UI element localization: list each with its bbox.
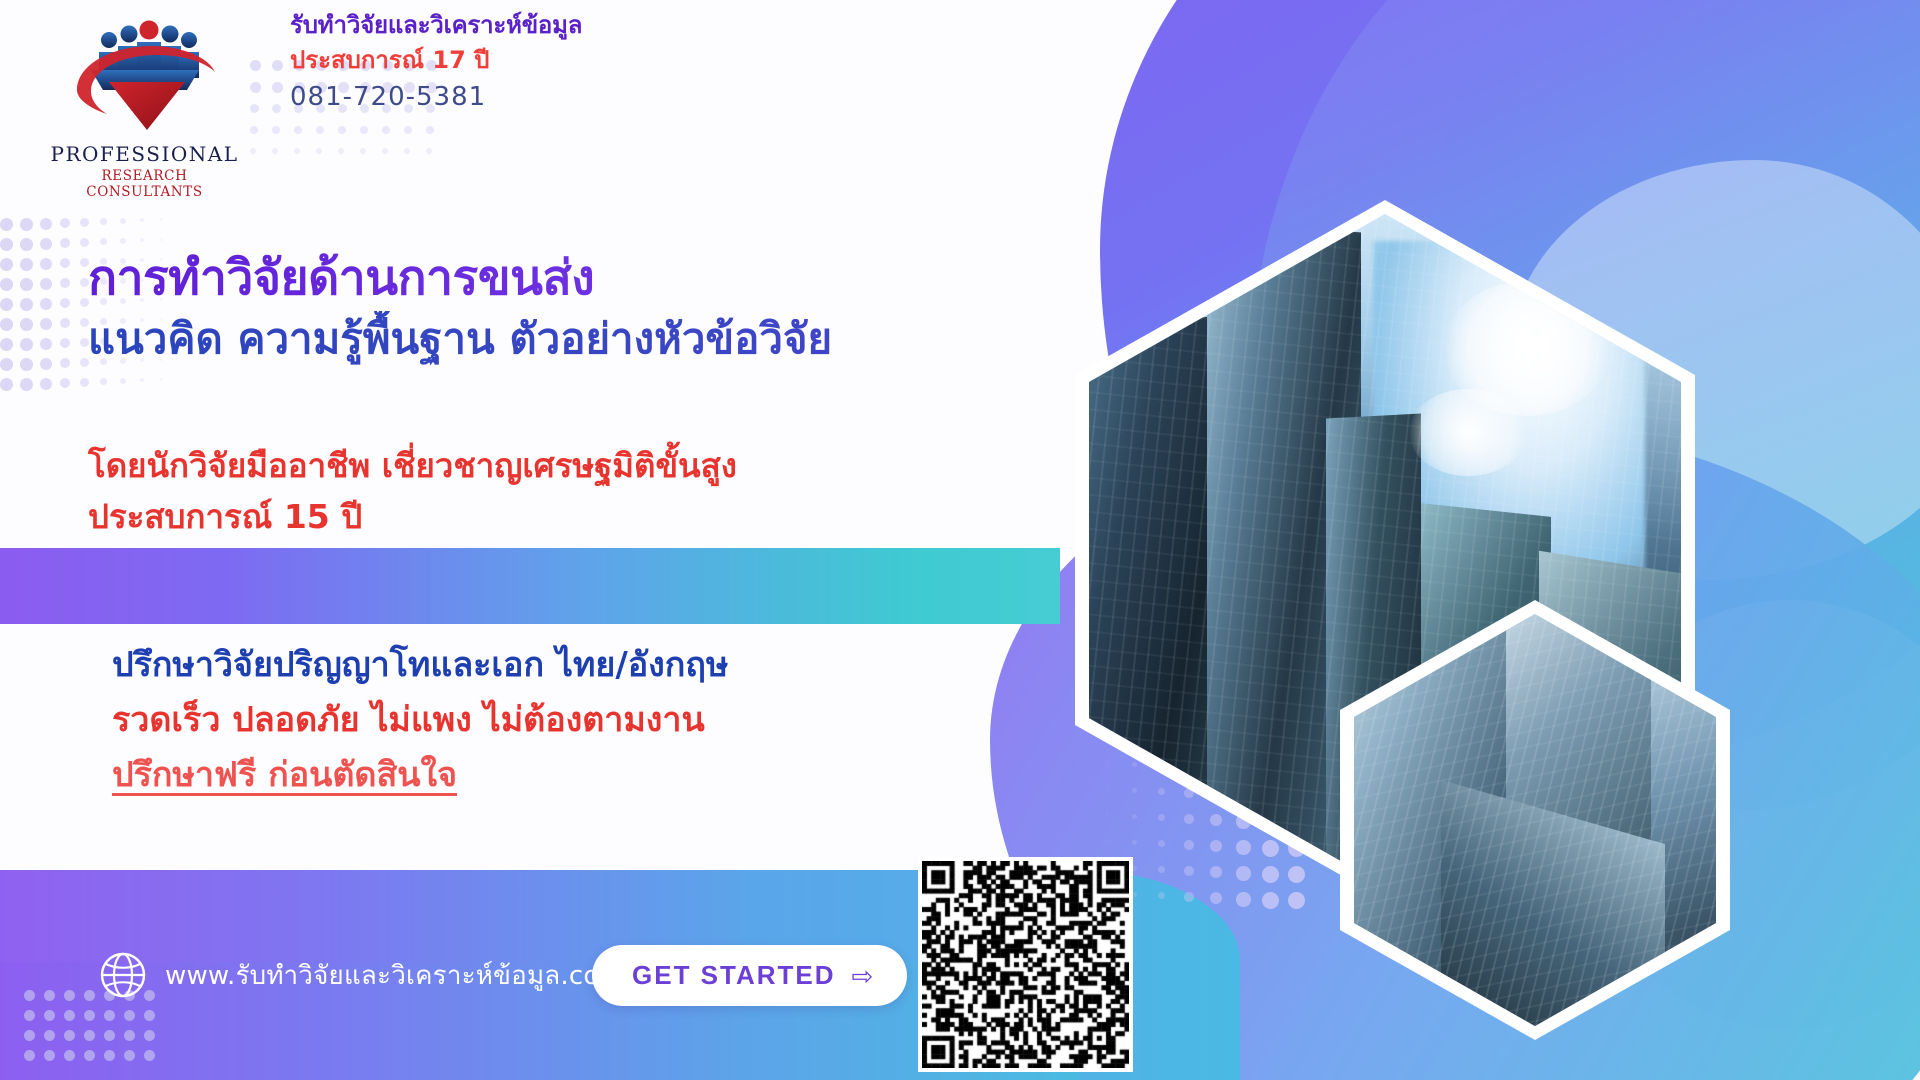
photo-glass-facade <box>1354 614 1716 1026</box>
company-logo: PROFESSIONAL RESEARCH CONSULTANTS <box>42 18 247 208</box>
page-title: การทำวิจัยด้านการขนส่ง <box>88 248 1098 309</box>
contact-phone[interactable]: 081-720-5381 <box>290 78 750 117</box>
qr-code[interactable] <box>918 857 1133 1072</box>
contact-service-line: รับทำวิจัยและวิเคราะห์ข้อมูล <box>290 8 750 43</box>
page-subtitle: แนวคิด ความรู้พื้นฐาน ตัวอย่างหัวข้อวิจั… <box>88 311 1098 366</box>
offer-line-3[interactable]: ปรึกษาฟรี ก่อนตัดสินใจ <box>112 748 1062 803</box>
hex-clip-2 <box>1354 614 1716 1026</box>
globe-icon <box>100 952 146 998</box>
hex-photo-inner-2 <box>1354 614 1716 1026</box>
get-started-label: GET STARTED <box>632 960 836 991</box>
offer-line-2: รวดเร็ว ปลอดภัย ไม่แพง ไม่ต้องตามงาน <box>112 693 1062 748</box>
offer-line-1: ปรึกษาวิจัยปริญญาโทและเอก ไทย/อังกฤษ <box>112 638 1062 693</box>
header-contact-block: รับทำวิจัยและวิเคราะห์ข้อมูล ประสบการณ์ … <box>290 8 750 117</box>
arrow-right-icon: ⇨ <box>852 963 874 989</box>
credentials-line-1: โดยนักวิจัยมืออาชีพ เชี่ยวชาญเศรษฐมิติขั… <box>88 440 1068 491</box>
credentials-block: โดยนักวิจัยมืออาชีพ เชี่ยวชาญเศรษฐมิติขั… <box>88 440 1068 542</box>
credentials-line-2: ประสบการณ์ 15 ปี <box>88 491 1068 542</box>
marketing-banner: PROFESSIONAL RESEARCH CONSULTANTS รับทำว… <box>0 0 1920 1080</box>
logo-mark-icon <box>65 18 225 138</box>
hex-photo-facade <box>1340 600 1730 1040</box>
mid-gradient-band <box>0 548 1060 624</box>
website-url[interactable]: www.รับทำวิจัยและวิเคราะห์ข้อมูล.com <box>165 955 625 996</box>
logo-name-primary: PROFESSIONAL <box>42 142 247 166</box>
logo-name-secondary: RESEARCH CONSULTANTS <box>42 168 247 200</box>
contact-experience-line: ประสบการณ์ 17 ปี <box>290 43 750 78</box>
headline-block: การทำวิจัยด้านการขนส่ง แนวคิด ความรู้พื้… <box>88 248 1098 367</box>
offer-block: ปรึกษาวิจัยปริญญาโทและเอก ไทย/อังกฤษ รวด… <box>112 638 1062 803</box>
facade-texture-horizontal <box>1354 614 1716 1026</box>
get-started-button[interactable]: GET STARTED ⇨ <box>592 945 907 1006</box>
cloud-2 <box>1409 389 1527 476</box>
